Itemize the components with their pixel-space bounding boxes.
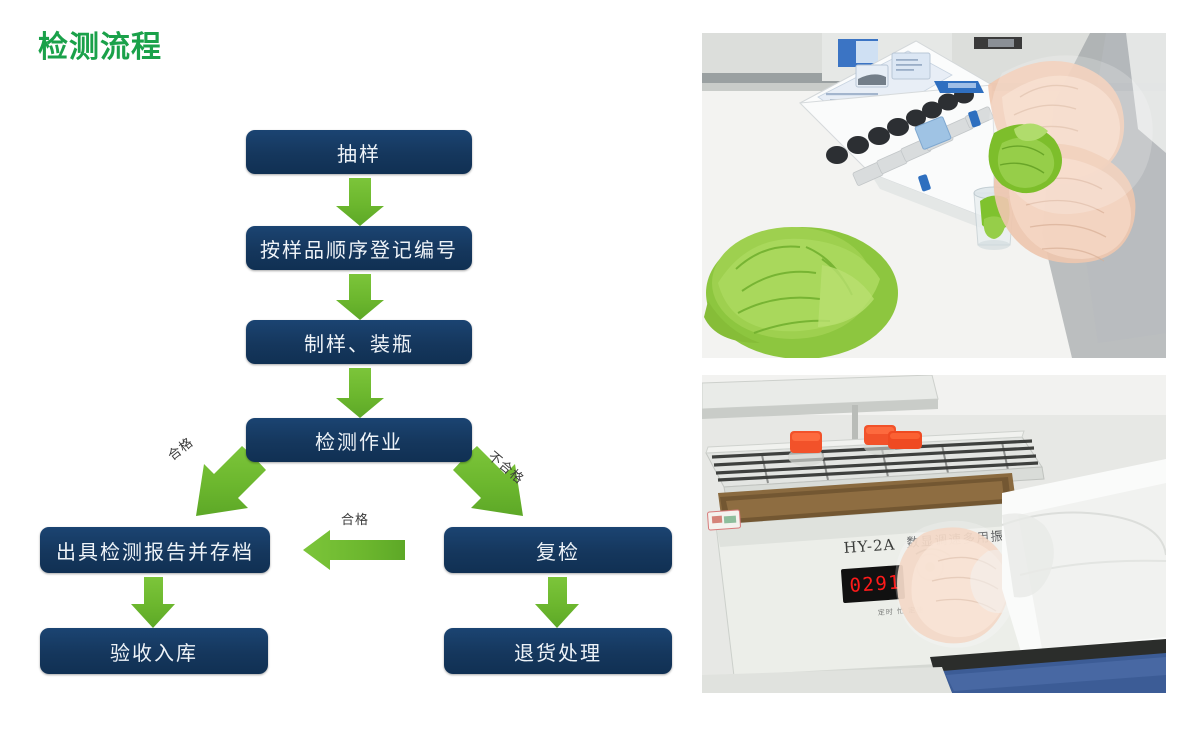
edge-label-fail-right: 不合格: [485, 446, 529, 488]
arrow-recheck-to-report: [303, 530, 405, 570]
svg-text:HY-2A: HY-2A: [843, 535, 896, 557]
flow-node-report[interactable]: 出具检测报告并存档: [40, 527, 270, 573]
edge-label-pass-mid: 合格: [341, 509, 369, 528]
arrow-recheck-to-return: [535, 577, 579, 628]
flow-node-warehouse[interactable]: 验收入库: [40, 628, 268, 674]
svg-text:0291: 0291: [849, 571, 902, 597]
flowchart: 抽样 按样品顺序登记编号 制样、装瓶 检测作业 出具检测报告并存档 复检 验收入…: [0, 0, 700, 733]
flow-node-prepare[interactable]: 制样、装瓶: [246, 320, 472, 364]
flow-node-register[interactable]: 按样品顺序登记编号: [246, 226, 472, 270]
flow-node-testing[interactable]: 检测作业: [246, 418, 472, 462]
photo-sample-preparation: [702, 33, 1166, 358]
photo-shaker-operation: HY-2A 数显调速多用振荡器 0291 定时 忙 定速: [702, 375, 1166, 693]
arrow-report-to-warehouse: [131, 577, 175, 628]
flow-node-return[interactable]: 退货处理: [444, 628, 672, 674]
flow-arrow-layer: [0, 0, 700, 733]
arrow-register-to-prepare: [336, 274, 384, 320]
edge-label-pass-left: 合格: [163, 432, 197, 464]
flow-node-sampling[interactable]: 抽样: [246, 130, 472, 174]
arrow-prepare-to-testing: [336, 368, 384, 418]
arrow-sampling-to-register: [336, 178, 384, 226]
flow-node-recheck[interactable]: 复检: [444, 527, 672, 573]
